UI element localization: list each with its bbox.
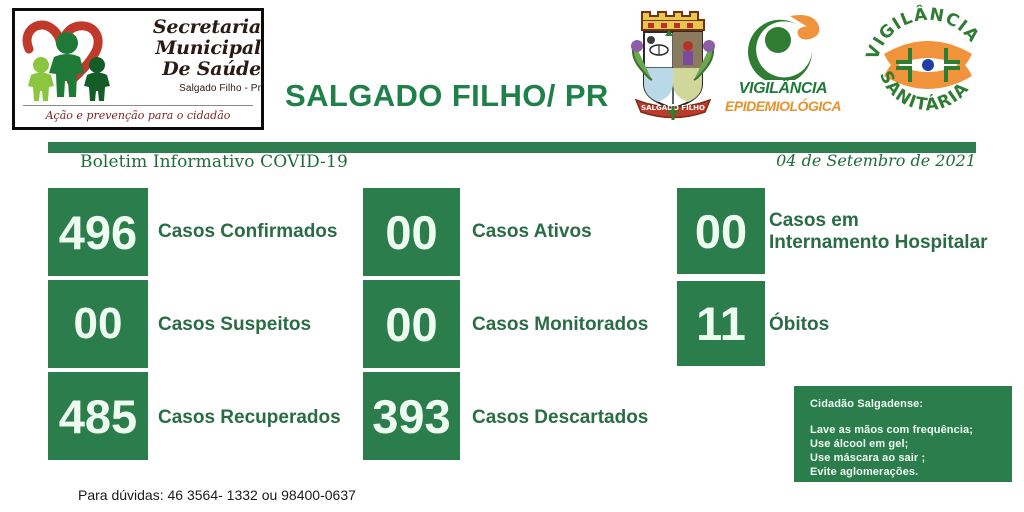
covid-bulletin-page: Secretaria Municipal De Saúde Salgado Fi… (0, 0, 1024, 512)
epidemiologica-swirl-icon (722, 8, 844, 80)
stat-value-casos-ativos: 00 (363, 188, 460, 276)
contact-footer: Para dúvidas: 46 3564- 1332 ou 98400-063… (78, 487, 356, 503)
secretaria-logo-text: Secretaria Municipal De Saúde Salgado Fi… (141, 17, 261, 94)
stat-value-obitos: 11 (677, 281, 765, 366)
stat-value-casos-descartados: 393 (363, 372, 460, 460)
secretaria-municipal-saude-logo: Secretaria Municipal De Saúde Salgado Fi… (12, 8, 264, 130)
stat-label-casos-confirmados: Casos Confirmados (158, 221, 337, 243)
advice-item: Lave as mãos com frequência; (810, 423, 1012, 437)
stat-label-casos-suspeitos: Casos Suspeitos (158, 314, 311, 336)
stat-value-casos-monitorados: 00 (363, 280, 460, 368)
advice-item: Use álcool em gel; (810, 437, 1012, 451)
stat-value-casos-internamento: 00 (677, 188, 765, 274)
stat-value-casos-recuperados: 485 (48, 372, 148, 460)
vigilancia-epidemiologica-logo: VIGILÂNCIA EPIDEMIOLÓGICA (722, 8, 844, 120)
advice-box: Cidadão Salgadense: Lave as mãos com fre… (794, 386, 1012, 482)
secretaria-slogan: Ação e prevenção para o cidadão (15, 109, 261, 122)
advice-title: Cidadão Salgadense: (810, 398, 1012, 410)
family-heart-icon (21, 15, 139, 101)
vigilancia-sanitaria-logo: VIGILÂNCIA SANITÁRIA (862, 2, 994, 124)
bulletin-label: Boletim Informativo COVID-19 (80, 152, 348, 172)
advice-item: Use máscara ao sair ; (810, 451, 1012, 465)
secretaria-line-3: De Saúde (141, 59, 261, 80)
secretaria-line-2: Municipal (141, 38, 261, 59)
page-title: SALGADO FILHO/ PR (285, 78, 609, 114)
epidemiologica-word-1: VIGILÂNCIA (722, 80, 844, 98)
stat-label-casos-internamento: Casos em Internamento Hospitalar (769, 210, 988, 254)
stat-label-casos-internamento-line2: Internamento Hospitalar (769, 232, 988, 254)
stat-value-casos-confirmados: 496 (48, 188, 148, 276)
logo-divider (23, 105, 253, 106)
header: Secretaria Municipal De Saúde Salgado Fi… (0, 0, 1024, 140)
secretaria-city: Salgado Filho - Pr (141, 83, 261, 94)
stat-value-casos-suspeitos: 00 (48, 280, 148, 368)
stat-label-casos-internamento-line1: Casos em (769, 210, 988, 232)
advice-list: Lave as mãos com frequência; Use álcool … (810, 423, 1012, 479)
stat-label-obitos: Óbitos (769, 314, 829, 336)
stat-label-casos-monitorados: Casos Monitorados (472, 314, 648, 336)
stat-label-casos-recuperados: Casos Recuperados (158, 407, 341, 429)
bulletin-date: 04 de Setembro de 2021 (776, 151, 976, 170)
epidemiologica-word-2: EPIDEMIOLÓGICA (722, 98, 844, 114)
stat-label-casos-descartados: Casos Descartados (472, 407, 648, 429)
secretaria-line-1: Secretaria (141, 17, 261, 38)
stat-label-casos-ativos: Casos Ativos (472, 221, 592, 243)
advice-item: Evite aglomerações. (810, 465, 1012, 479)
coat-of-arms-icon: SALGADO FILHO (628, 6, 718, 122)
